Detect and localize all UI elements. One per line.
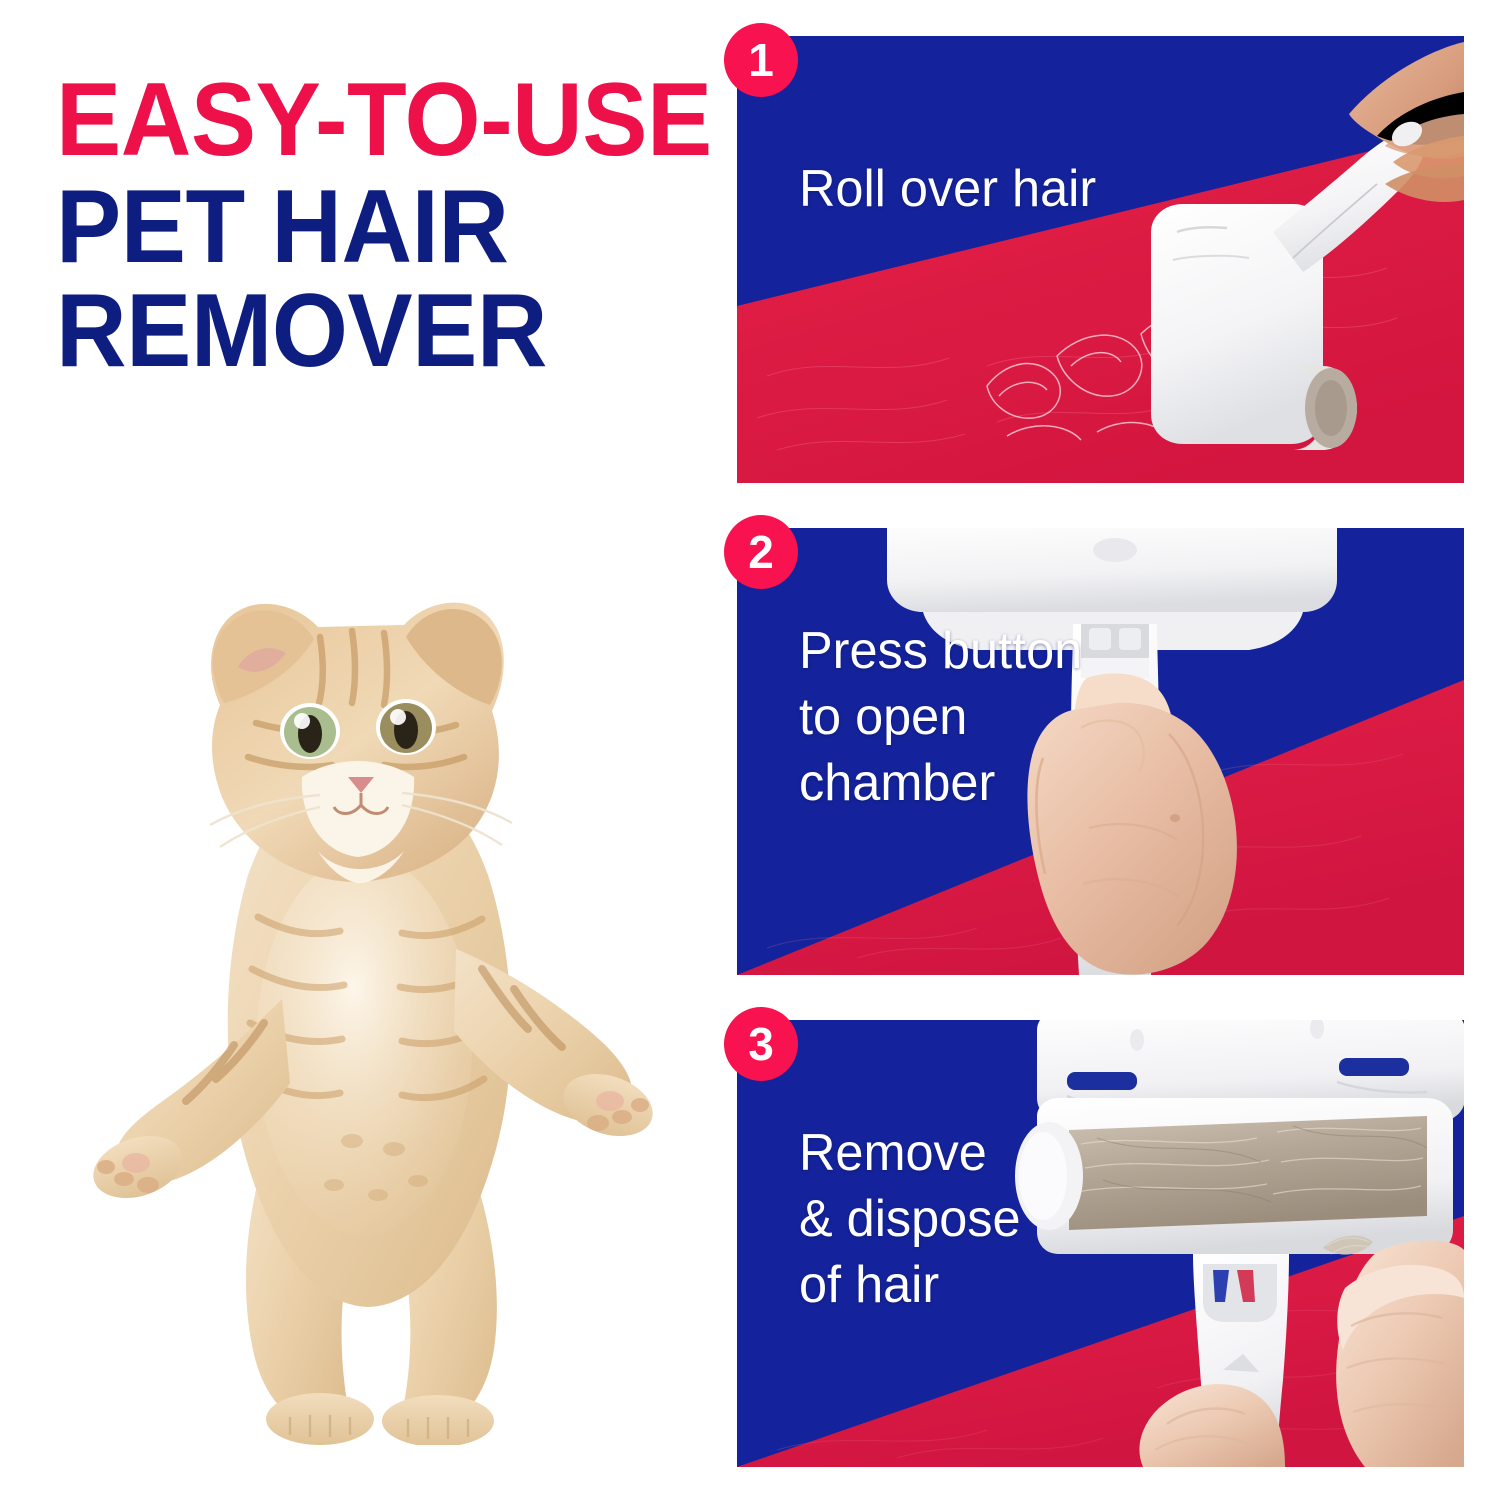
step-caption-2: Press button to open chamber (799, 618, 1082, 816)
page-title: EASY-TO-USE PET HAIR REMOVER (56, 72, 696, 380)
headline-line-3: REMOVER (56, 283, 658, 380)
step-1-artwork (737, 36, 1464, 483)
step-panel-1: 1 Roll over hair (737, 36, 1464, 483)
step-panel-3: 3 Remove & dispose of hair (737, 1020, 1464, 1467)
step-panel-2: 2 Press button to open chamber (737, 528, 1464, 975)
step-caption-3: Remove & dispose of hair (799, 1120, 1021, 1318)
headline-line-2: PET HAIR (56, 179, 658, 276)
steps-column: 1 Roll over hair (737, 36, 1464, 1446)
step-number-badge-1: 1 (724, 23, 798, 97)
step-number-badge-2: 2 (724, 515, 798, 589)
headline-line-1: EASY-TO-USE (56, 72, 658, 169)
cat-illustration (52, 545, 692, 1445)
left-column: EASY-TO-USE PET HAIR REMOVER (0, 0, 712, 1500)
hero-cat-image (52, 545, 692, 1445)
step-caption-1: Roll over hair (799, 156, 1096, 222)
step-number-badge-3: 3 (724, 1007, 798, 1081)
